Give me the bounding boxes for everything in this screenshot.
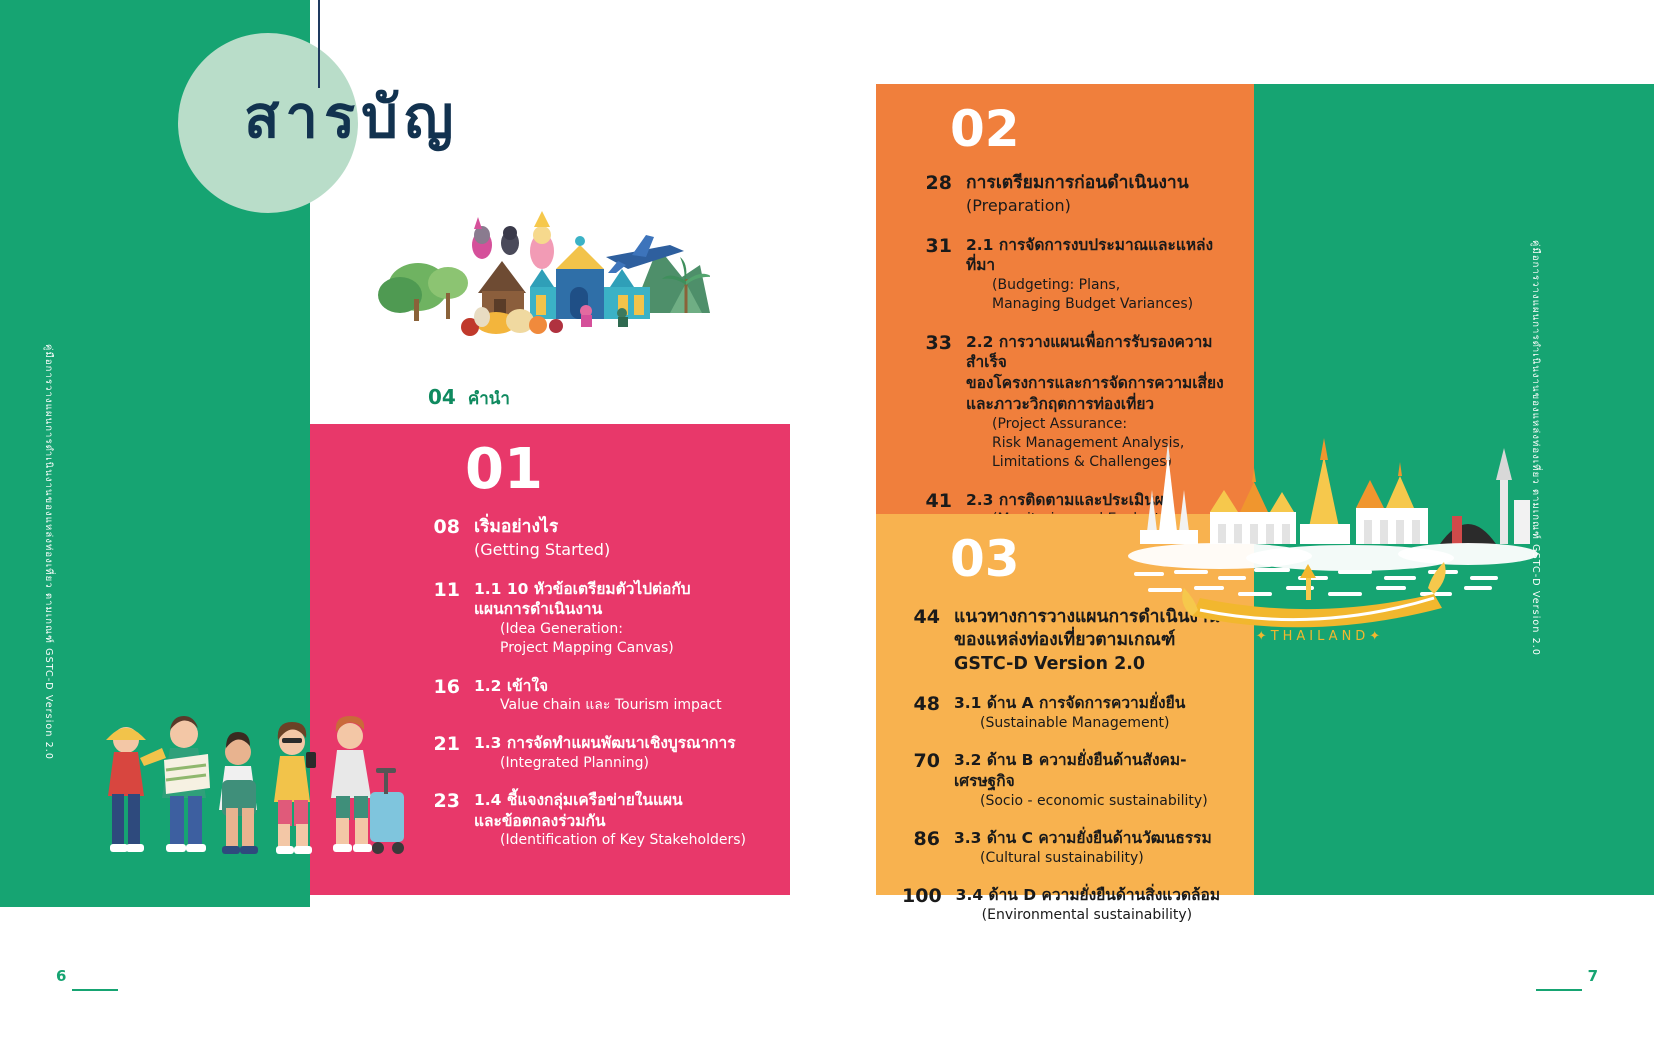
toc-page-number: 44	[902, 606, 954, 676]
toc-entry-body: 3.3 ด้าน C ความยั่งยืนด้านวัฒนธรรม(Cultu…	[954, 828, 1247, 868]
toc-entry[interactable]: 111.1 10 หัวข้อเตรียมตัวไปต่อกับแผนการดำ…	[422, 579, 782, 659]
title-vertical-rule	[318, 0, 320, 88]
toc-page-number: 70	[902, 750, 954, 811]
toc-entry-body: 2.1 การจัดการงบประมาณและแหล่งที่มา(Budge…	[966, 235, 1234, 315]
toc-title-th: 1.3 การจัดทำแผนพัฒนาเชิงบูรณาการ	[474, 733, 782, 754]
toc-title-th: 1.2 เข้าใจ	[474, 676, 782, 697]
toc-title-th: 3.4 ด้าน D ความยั่งยืนด้านสิ่งแวดล้อม	[956, 885, 1247, 906]
section-01-number: 01	[465, 442, 543, 498]
toc-title-en: (Cultural sustainability)	[954, 849, 1247, 868]
toc-entry[interactable]: 863.3 ด้าน C ความยั่งยืนด้านวัฒนธรรม(Cul…	[902, 828, 1247, 868]
toc-title-en: (Environmental sustainability)	[956, 906, 1247, 925]
section-03-number: 03	[950, 534, 1020, 584]
toc-title-en: (Identification of Key Stakeholders)	[474, 831, 782, 850]
toc-title-th: ของโครงการและการจัดการความเสี่ยง	[966, 373, 1234, 394]
toc-page-number: 23	[422, 790, 474, 851]
left-page: สารบัญ คู่มือการวางแผนการดำเนินงานของแหล…	[0, 0, 790, 1063]
toc-title-th: 3.2 ด้าน B ความยั่งยืนด้านสังคม-เศรษฐกิจ	[954, 750, 1247, 792]
toc-entry[interactable]: 08เริ่มอย่างไร(Getting Started)	[422, 516, 782, 562]
toc-page-number: 86	[902, 828, 954, 868]
folio-rule-right	[1536, 989, 1582, 991]
toc-page-number: 48	[902, 693, 954, 733]
toc-title-th: 2.1 การจัดการงบประมาณและแหล่งที่มา	[966, 235, 1234, 277]
toc-page-number: 100	[902, 885, 956, 925]
toc-entry[interactable]: 312.1 การจัดการงบประมาณและแหล่งที่มา(Bud…	[914, 235, 1234, 315]
toc-entry[interactable]: 211.3 การจัดทำแผนพัฒนาเชิงบูรณาการ(Integ…	[422, 733, 782, 773]
toc-title-th: และภาวะวิกฤตการท่องเที่ยว	[966, 394, 1234, 415]
toc-page-number: 28	[914, 172, 966, 218]
toc-title-th: การเตรียมการก่อนดำเนินงาน	[966, 172, 1234, 195]
thai-culture-travel-illustration	[370, 195, 710, 355]
toc-title-th: 1.4 ชี้แจงกลุ่มเครือข่ายในแผน	[474, 790, 782, 811]
toc-entry[interactable]: 231.4 ชี้แจงกลุ่มเครือข่ายในแผนและข้อตกล…	[422, 790, 782, 851]
toc-page-number: 16	[422, 676, 474, 716]
toc-entry[interactable]: 161.2 เข้าใจValue chain และ Tourism impa…	[422, 676, 782, 716]
toc-title-en: Project Mapping Canvas)	[474, 639, 782, 658]
toc-entry[interactable]: 483.1 ด้าน A การจัดการความยั่งยืน(Sustai…	[902, 693, 1247, 733]
table-of-contents-spread: สารบัญ คู่มือการวางแผนการดำเนินงานของแหล…	[0, 0, 1654, 1063]
toc-entry[interactable]: 703.2 ด้าน B ความยั่งยืนด้านสังคม-เศรษฐก…	[902, 750, 1247, 811]
svg-text:✦THAILAND✦: ✦THAILAND✦	[1256, 629, 1384, 644]
toc-title-en: (Budgeting: Plans,	[966, 276, 1234, 295]
toc-preface-row[interactable]: 04 คำนำ	[428, 385, 510, 412]
toc-title-en: (Getting Started)	[474, 539, 782, 561]
section-01-item-list: 08เริ่มอย่างไร(Getting Started)111.1 10 …	[422, 516, 782, 868]
toc-entry-body: 1.4 ชี้แจงกลุ่มเครือข่ายในแผนและข้อตกลงร…	[474, 790, 782, 851]
left-margin-note: คู่มือการวางแผนการดำเนินงานของแหล่งท่องเ…	[41, 240, 56, 760]
bangkok-skyline-royal-barge-illustration: ✦THAILAND✦	[1100, 420, 1540, 650]
toc-entry-body: การเตรียมการก่อนดำเนินงาน(Preparation)	[966, 172, 1234, 218]
toc-entry-body: 3.1 ด้าน A การจัดการความยั่งยืน(Sustaina…	[954, 693, 1247, 733]
page-folio-right: 7	[1588, 967, 1598, 985]
group-of-tourists-illustration	[78, 700, 408, 885]
toc-entry[interactable]: 28การเตรียมการก่อนดำเนินงาน(Preparation)	[914, 172, 1234, 218]
section-03-item-list: 44แนวทางการวางแผนการดำเนินงานของแหล่งท่อ…	[902, 606, 1247, 942]
toc-title-th: GSTC-D Version 2.0	[954, 653, 1247, 676]
toc-title-th: เริ่มอย่างไร	[474, 516, 782, 539]
toc-page-number: 08	[422, 516, 474, 562]
toc-entry-body: เริ่มอย่างไร(Getting Started)	[474, 516, 782, 562]
toc-entry-body: 1.2 เข้าใจValue chain และ Tourism impact	[474, 676, 782, 716]
toc-title-th: แผนการดำเนินงาน	[474, 599, 782, 620]
toc-entry-body: 1.1 10 หัวข้อเตรียมตัวไปต่อกับแผนการดำเน…	[474, 579, 782, 659]
toc-title-en: Value chain และ Tourism impact	[474, 696, 782, 715]
toc-title-th: 1.1 10 หัวข้อเตรียมตัวไปต่อกับ	[474, 579, 782, 600]
page-folio-left: 6	[56, 967, 66, 985]
toc-title-en: Managing Budget Variances)	[966, 295, 1234, 314]
preface-label: คำนำ	[468, 385, 510, 412]
toc-page-number: 21	[422, 733, 474, 773]
page-title: สารบัญ	[244, 88, 459, 146]
toc-title-th: 2.2 การวางแผนเพื่อการรับรองความสำเร็จ	[966, 332, 1234, 374]
toc-title-en: (Integrated Planning)	[474, 754, 782, 773]
toc-title-en: (Preparation)	[966, 195, 1234, 217]
preface-page-number: 04	[428, 385, 456, 409]
toc-page-number: 11	[422, 579, 474, 659]
toc-title-th: 3.3 ด้าน C ความยั่งยืนด้านวัฒนธรรม	[954, 828, 1247, 849]
toc-title-th: และข้อตกลงร่วมกัน	[474, 811, 782, 832]
toc-title-en: (Idea Generation:	[474, 620, 782, 639]
toc-entry-body: 3.2 ด้าน B ความยั่งยืนด้านสังคม-เศรษฐกิจ…	[954, 750, 1247, 811]
toc-title-th: 3.1 ด้าน A การจัดการความยั่งยืน	[954, 693, 1247, 714]
toc-entry-body: 3.4 ด้าน D ความยั่งยืนด้านสิ่งแวดล้อม(En…	[956, 885, 1247, 925]
folio-rule-left	[72, 989, 118, 991]
toc-page-number: 31	[914, 235, 966, 315]
toc-entry-body: 1.3 การจัดทำแผนพัฒนาเชิงบูรณาการ(Integra…	[474, 733, 782, 773]
section-02-number: 02	[950, 104, 1020, 154]
toc-entry[interactable]: 1003.4 ด้าน D ความยั่งยืนด้านสิ่งแวดล้อม…	[902, 885, 1247, 925]
toc-page-number: 33	[914, 332, 966, 473]
toc-title-en: (Socio - economic sustainability)	[954, 792, 1247, 811]
toc-title-en: (Sustainable Management)	[954, 714, 1247, 733]
